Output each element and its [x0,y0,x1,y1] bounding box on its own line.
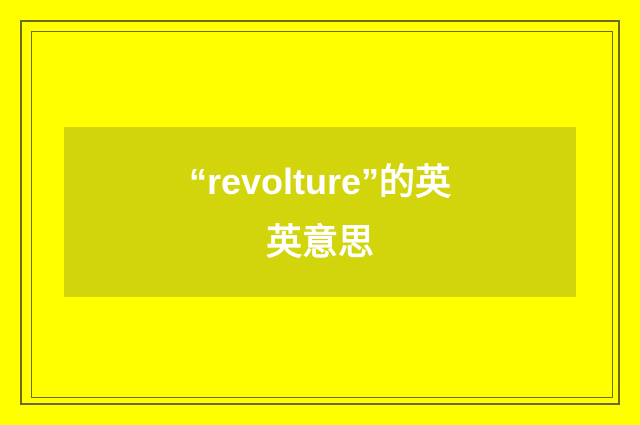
page-title: “revolture”的英英意思 [175,152,465,272]
title-plate: “revolture”的英英意思 [64,127,576,297]
poster-canvas: “revolture”的英英意思 [0,0,640,425]
